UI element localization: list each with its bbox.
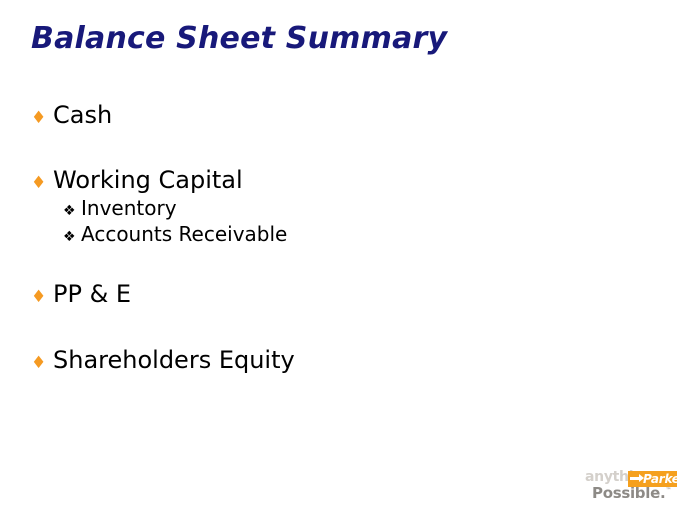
- bullet-label: Shareholders Equity: [53, 345, 295, 375]
- bullet-list: ♦Cash♦Working Capital❖Inventory❖Accounts…: [0, 100, 640, 375]
- spacer: [0, 247, 640, 279]
- diamond-bullet-icon: ♦: [31, 289, 53, 306]
- spacer: [0, 309, 640, 345]
- slide-canvas: Balance Sheet Summary ♦Cash♦Working Capi…: [0, 0, 680, 510]
- diamond-bullet-icon: ♦: [31, 175, 53, 192]
- sub-bullet-label: Inventory: [81, 195, 177, 221]
- parker-logo: anything Possible.™ Parker: [585, 466, 677, 504]
- floral-diamond-bullet-icon: ❖: [63, 230, 81, 244]
- diamond-bullet-icon: ♦: [31, 355, 53, 372]
- logo-brand-box: Parker: [628, 471, 677, 487]
- sub-bullet-item: ❖Inventory: [0, 195, 640, 221]
- trademark-icon: ™: [665, 487, 671, 494]
- bullet-label: Working Capital: [53, 165, 243, 195]
- bullet-item: ♦Working Capital: [0, 165, 640, 195]
- sub-bullet-item: ❖Accounts Receivable: [0, 221, 640, 247]
- bullet-label: Cash: [53, 100, 112, 130]
- bullet-label: PP & E: [53, 279, 131, 309]
- sub-bullet-label: Accounts Receivable: [81, 221, 287, 247]
- bullet-item: ♦PP & E: [0, 279, 640, 309]
- page-title: Balance Sheet Summary: [31, 22, 447, 55]
- logo-brand-text: Parker: [643, 472, 680, 486]
- spacer: [0, 130, 640, 165]
- bullet-item: ♦Cash: [0, 100, 640, 130]
- floral-diamond-bullet-icon: ❖: [63, 204, 81, 218]
- bullet-item: ♦Shareholders Equity: [0, 345, 640, 375]
- diamond-bullet-icon: ♦: [31, 110, 53, 127]
